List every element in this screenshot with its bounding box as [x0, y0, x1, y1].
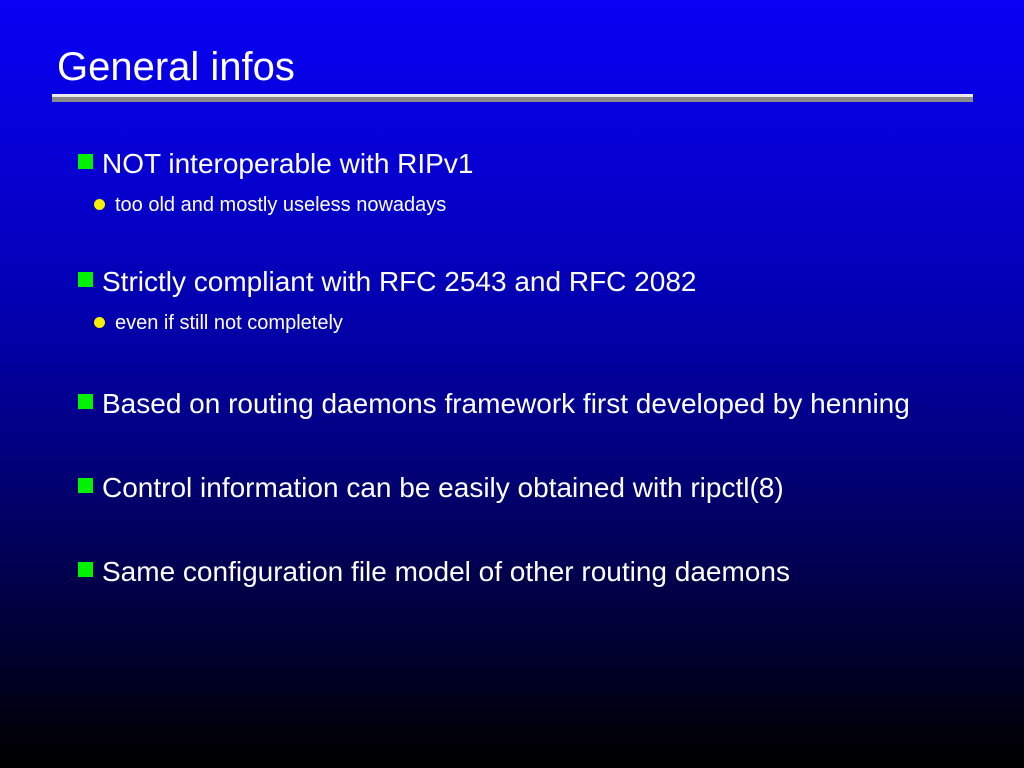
spacer — [0, 340, 1024, 380]
title-divider — [52, 94, 973, 103]
slide-body: NOT interoperable with RIPv1 too old and… — [0, 140, 1024, 596]
list-item: Control information can be easily obtain… — [0, 464, 1024, 512]
title-divider-shadow — [52, 97, 973, 102]
list-item-label: Control information can be easily obtain… — [102, 464, 984, 512]
list-item-label: Same configuration file model of other r… — [102, 548, 984, 596]
list-item: too old and mostly useless nowadays — [0, 188, 1024, 222]
green-square-bullet-icon — [78, 562, 93, 577]
list-item-label: NOT interoperable with RIPv1 — [102, 140, 984, 188]
spacer — [0, 512, 1024, 548]
green-square-bullet-icon — [78, 394, 93, 409]
slide-title-block: General infos — [52, 44, 973, 103]
yellow-circle-bullet-icon — [94, 199, 105, 210]
yellow-circle-bullet-icon — [94, 317, 105, 328]
spacer — [0, 222, 1024, 258]
list-item: Based on routing daemons framework first… — [0, 380, 1024, 428]
green-square-bullet-icon — [78, 154, 93, 169]
list-item: NOT interoperable with RIPv1 — [0, 140, 1024, 188]
spacer — [0, 428, 1024, 464]
green-square-bullet-icon — [78, 272, 93, 287]
list-item: Same configuration file model of other r… — [0, 548, 1024, 596]
list-item-label: even if still not completely — [115, 306, 984, 340]
list-item-label: Strictly compliant with RFC 2543 and RFC… — [102, 258, 984, 306]
presentation-slide: General infos NOT interoperable with RIP… — [0, 0, 1024, 768]
list-item-label: too old and mostly useless nowadays — [115, 188, 984, 222]
page-title: General infos — [57, 44, 973, 90]
list-item: Strictly compliant with RFC 2543 and RFC… — [0, 258, 1024, 306]
green-square-bullet-icon — [78, 478, 93, 493]
list-item-label: Based on routing daemons framework first… — [102, 380, 984, 428]
list-item: even if still not completely — [0, 306, 1024, 340]
